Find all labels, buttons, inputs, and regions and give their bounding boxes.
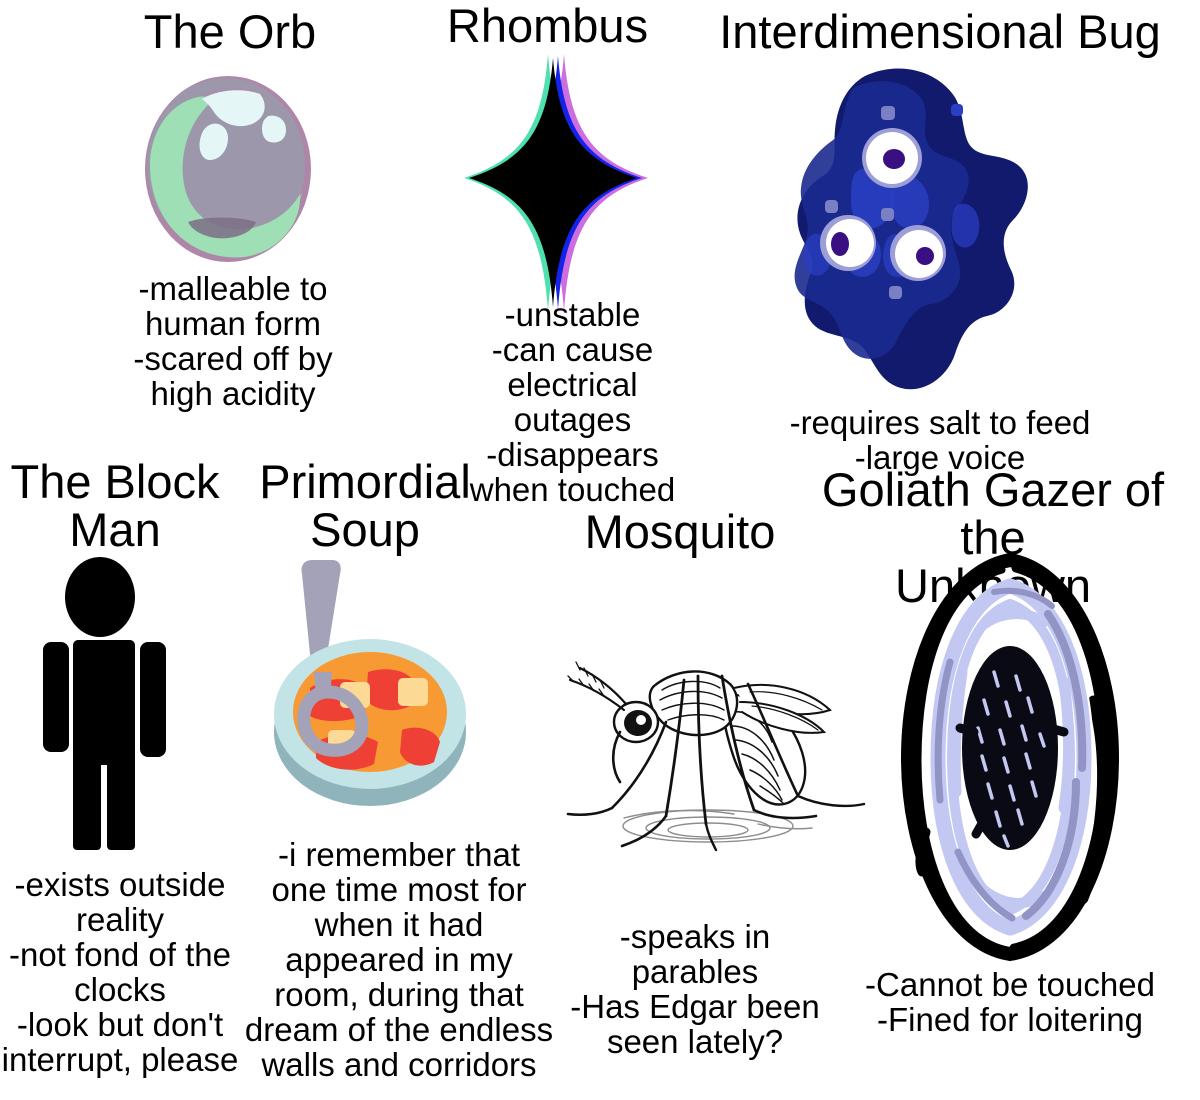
entry-title-primordial-soup: Primordial Soup — [240, 458, 490, 554]
entry-title-mosquito: Mosquito — [555, 508, 805, 556]
entry-traits-the-orb: -malleable to human form -scared off by … — [58, 272, 408, 412]
entry-title-interdimensional-bug: Interdimensional Bug — [680, 8, 1200, 56]
entry-traits-the-block-man: -exists outside reality -not fond of the… — [0, 868, 240, 1078]
block-figure-icon — [30, 552, 205, 867]
eye-icon — [898, 552, 1126, 962]
mosquito-icon — [558, 618, 868, 858]
entry-traits-mosquito: -speaks in parables -Has Edgar been seen… — [570, 920, 820, 1060]
orb-icon — [140, 72, 315, 267]
entry-title-rhombus: Rhombus — [420, 2, 675, 50]
soup-bowl-icon — [262, 552, 477, 827]
entry-traits-goliath-gazer: -Cannot be touched -Fined for loitering — [845, 968, 1175, 1038]
entry-traits-primordial-soup: -i remember that one time most for when … — [244, 838, 554, 1083]
entry-title-the-block-man: The Block Man — [0, 458, 230, 554]
blob-creature-icon — [755, 58, 1055, 410]
starter-pack-collage: The Orb -malleable to human form -scared… — [0, 0, 1200, 1100]
entry-traits-rhombus: -unstable -can cause electrical outages … — [455, 298, 690, 508]
entry-title-the-orb: The Orb — [35, 8, 425, 56]
four-point-star-icon — [452, 50, 657, 315]
